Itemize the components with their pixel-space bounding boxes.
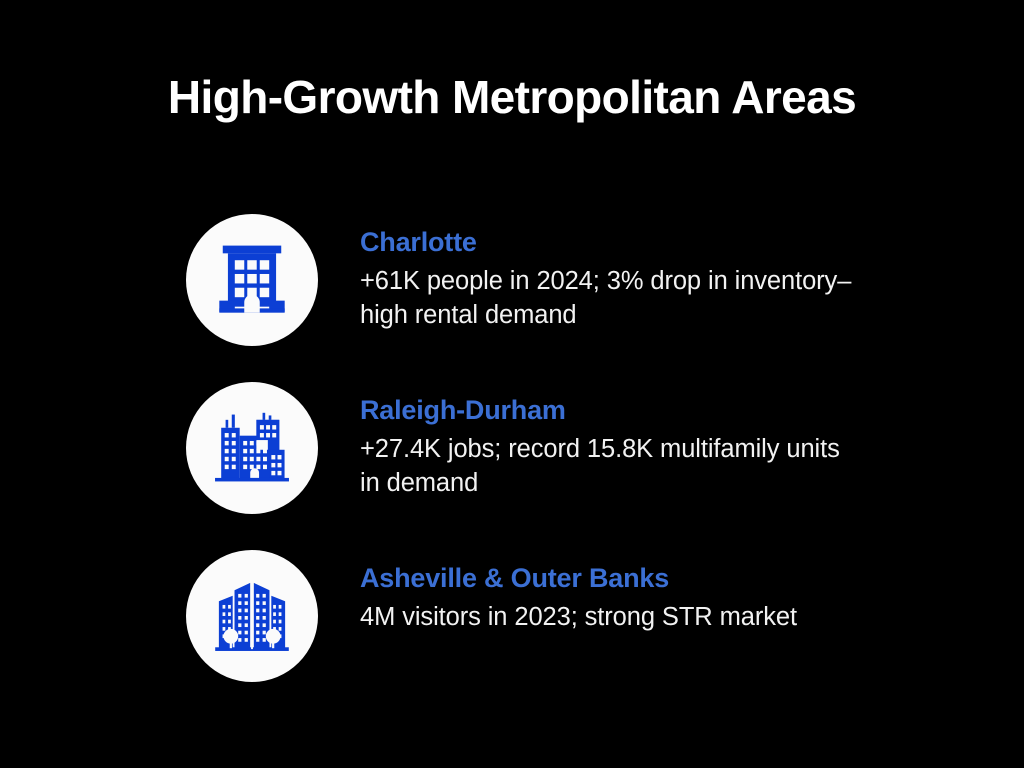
list-item[interactable]: Asheville & Outer Banks 4M visitors in 2… (186, 550, 886, 682)
slide-root: High-Growth Metropolitan Areas (0, 0, 1024, 768)
list-item-text: Charlotte +61K people in 2024; 3% drop i… (318, 214, 886, 333)
icon-badge (186, 214, 318, 346)
metro-areas-list: Charlotte +61K people in 2024; 3% drop i… (186, 214, 886, 682)
icon-badge (186, 550, 318, 682)
office-building-icon (209, 237, 295, 323)
towers-with-trees-icon (206, 570, 298, 662)
icon-badge (186, 382, 318, 514)
list-item-text: Asheville & Outer Banks 4M visitors in 2… (318, 550, 886, 635)
list-item-heading: Asheville & Outer Banks (360, 562, 886, 594)
city-skyline-icon (208, 404, 296, 492)
list-item-text: Raleigh-Durham +27.4K jobs; record 15.8K… (318, 382, 886, 501)
list-item-description: +27.4K jobs; record 15.8K multifamily un… (360, 433, 860, 500)
list-item-description: +61K people in 2024; 3% drop in inventor… (360, 265, 860, 332)
list-item-description: 4M visitors in 2023; strong STR market (360, 601, 860, 635)
list-item[interactable]: Charlotte +61K people in 2024; 3% drop i… (186, 214, 886, 346)
page-title: High-Growth Metropolitan Areas (0, 72, 1024, 123)
list-item-heading: Raleigh-Durham (360, 394, 886, 426)
list-item[interactable]: Raleigh-Durham +27.4K jobs; record 15.8K… (186, 382, 886, 514)
list-item-heading: Charlotte (360, 226, 886, 258)
